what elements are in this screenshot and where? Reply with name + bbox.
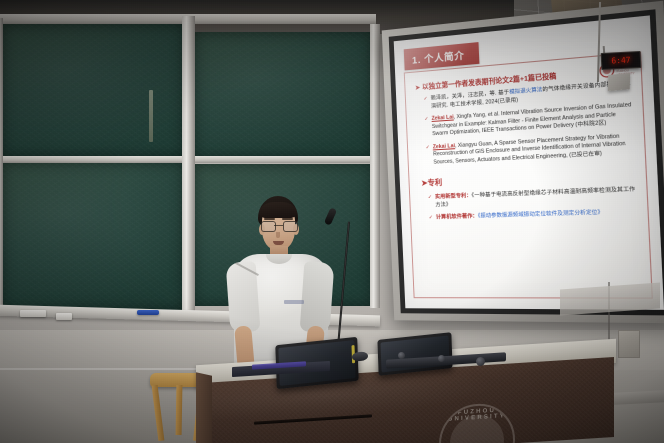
led-clock: 6:47 (601, 51, 642, 70)
glasses-lens-left (261, 221, 276, 232)
chalkboard-eraser-1[interactable] (20, 310, 46, 317)
check-bullet-icon: ✓ (429, 215, 433, 223)
hair-fringe (259, 202, 297, 218)
arrow-bullet-icon: ➤ (415, 85, 420, 91)
chalkboard-panel-3 (194, 32, 372, 158)
wall-speaker-box (608, 73, 630, 91)
chalkboard-panel-2 (2, 162, 184, 310)
board-frame-right (370, 24, 380, 308)
console-knob-3[interactable] (476, 357, 485, 366)
check-bullet-icon: ✓ (428, 195, 433, 210)
glasses-bridge (274, 225, 283, 226)
section-heading-patents: ➤专利 (421, 168, 637, 189)
eyebrow-right (282, 218, 293, 220)
stool-leg (152, 385, 165, 441)
board-frame-left (0, 18, 3, 312)
wall-access-panel (618, 330, 640, 358)
patent-item-2: ✓ 计算机软件著作：《振动参数振源频域振动定位软件及测定分析定位》 (429, 209, 639, 223)
projection-screen[interactable]: 1. 个人简介 福州大学 FUZHOU UNIVERSITY ➤以独立第一作者发… (382, 1, 664, 324)
board-clip (149, 90, 153, 142)
blue-marker[interactable] (137, 310, 159, 315)
led-clock-value: 6:47 (611, 56, 631, 65)
tshirt-sleeve-right (300, 261, 335, 333)
nose (276, 232, 280, 238)
board-frame-center (182, 16, 195, 312)
eyebrow-left (264, 218, 275, 220)
chalkboard-eraser-2[interactable] (56, 313, 72, 320)
stool-leg (176, 385, 183, 435)
glasses-icon (261, 221, 296, 230)
classroom-photo: 1. 个人简介 福州大学 FUZHOU UNIVERSITY ➤以独立第一作者发… (0, 0, 664, 443)
glasses-lens-right (283, 221, 298, 232)
check-bullet-icon: ✓ (424, 116, 429, 139)
check-bullet-icon: ✓ (423, 96, 428, 112)
console-knob-1[interactable] (398, 352, 405, 359)
tshirt-chest-print (284, 300, 304, 304)
patent-item-1: ✓ 实用新型专利：《一种基于电流高反射型绝缘芯子材料高温耐高频率检测及其工作方法… (428, 187, 638, 210)
console-knob-2[interactable] (438, 355, 445, 362)
chalkboard-panel-1 (2, 24, 184, 156)
check-bullet-icon: ✓ (426, 144, 431, 167)
podium-side-face (196, 372, 212, 443)
